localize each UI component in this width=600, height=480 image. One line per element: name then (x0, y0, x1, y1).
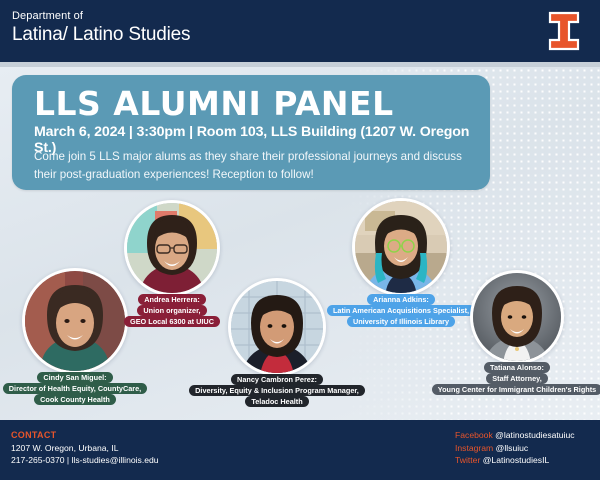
contact-label: CONTACT (11, 429, 159, 442)
panelist-org: GEO Local 6300 at UIUC (124, 316, 220, 327)
panelist-name: Arianna Adkins: (367, 294, 435, 305)
twitter-label: Twitter (455, 455, 480, 465)
facebook-handle: @latinostudiesatuiuc (495, 430, 574, 440)
contact-address: 1207 W. Oregon, Urbana, IL (11, 442, 159, 454)
panelist-role: Diversity, Equity & Inclusion Program Ma… (189, 385, 365, 396)
panelist-org: Cook County Health (34, 394, 116, 405)
header-band: Department of Latina/ Latino Studies (0, 0, 600, 62)
footer-band: CONTACT 1207 W. Oregon, Urbana, IL 217-2… (0, 420, 600, 480)
event-description: Come join 5 LLS major alums as they shar… (34, 148, 464, 184)
department-name: Latina/ Latino Studies (12, 25, 190, 46)
panelist-tatiana-alonso: Tatiana Alonso: Staff Attorney, Young Ce… (470, 270, 564, 364)
panelist-name: Cindy San Miguel: (37, 372, 112, 383)
panelist-caption: Arianna Adkins: Latin American Acquisiti… (306, 294, 496, 327)
panelist-caption: Nancy Cambron Perez: Diversity, Equity &… (172, 374, 382, 407)
avatar (124, 200, 220, 296)
panelist-role: Union organizer, (137, 305, 206, 316)
panelist-name: Tatiana Alonso: (484, 362, 550, 373)
panelist-arianna-adkins: Arianna Adkins: Latin American Acquisiti… (352, 198, 450, 296)
twitter-handle: @LatinostudiesIL (483, 455, 550, 465)
panelist-name: Andrea Herrera: (138, 294, 206, 305)
illinois-block-i-logo (547, 10, 581, 52)
panelist-caption: Cindy San Miguel: Director of Health Equ… (0, 372, 160, 405)
social-instagram[interactable]: Instagram @llsuiuc (455, 442, 575, 455)
page-title: LLS ALUMNI PANEL (34, 84, 394, 123)
poster: Department of Latina/ Latino Studies LLS… (0, 0, 600, 480)
panelist-org: Young Center for Immigrant Children's Ri… (432, 384, 600, 395)
social-links: Facebook @latinostudiesatuiuc Instagram … (455, 429, 575, 467)
department-title: Department of Latina/ Latino Studies (12, 11, 190, 45)
panelist-org: University of Illinois Library (347, 316, 455, 327)
avatar (470, 270, 564, 364)
social-facebook[interactable]: Facebook @latinostudiesatuiuc (455, 429, 575, 442)
department-prefix: Department of (12, 11, 190, 23)
panelist-andrea-herrera: Andrea Herrera: Union organizer, GEO Loc… (124, 200, 220, 296)
panelist-caption: Tatiana Alonso: Staff Attorney, Young Ce… (412, 362, 600, 395)
avatar (352, 198, 450, 296)
title-card: LLS ALUMNI PANEL March 6, 2024 | 3:30pm … (12, 75, 490, 190)
panelist-role: Latin American Acquisitions Specialist, (327, 305, 475, 316)
instagram-label: Instagram (455, 443, 493, 453)
panelist-role: Staff Attorney, (486, 373, 547, 384)
contact-phone-email[interactable]: 217-265-0370 | lls-studies@illinois.edu (11, 454, 159, 466)
panelist-role: Director of Health Equity, CountyCare, (3, 383, 147, 394)
instagram-handle: @llsuiuc (496, 443, 529, 453)
panelist-name: Nancy Cambron Perez: (231, 374, 323, 385)
social-twitter[interactable]: Twitter @LatinostudiesIL (455, 454, 575, 467)
facebook-label: Facebook (455, 430, 493, 440)
panelist-org: Teladoc Health (245, 396, 308, 407)
contact-block: CONTACT 1207 W. Oregon, Urbana, IL 217-2… (11, 429, 159, 466)
